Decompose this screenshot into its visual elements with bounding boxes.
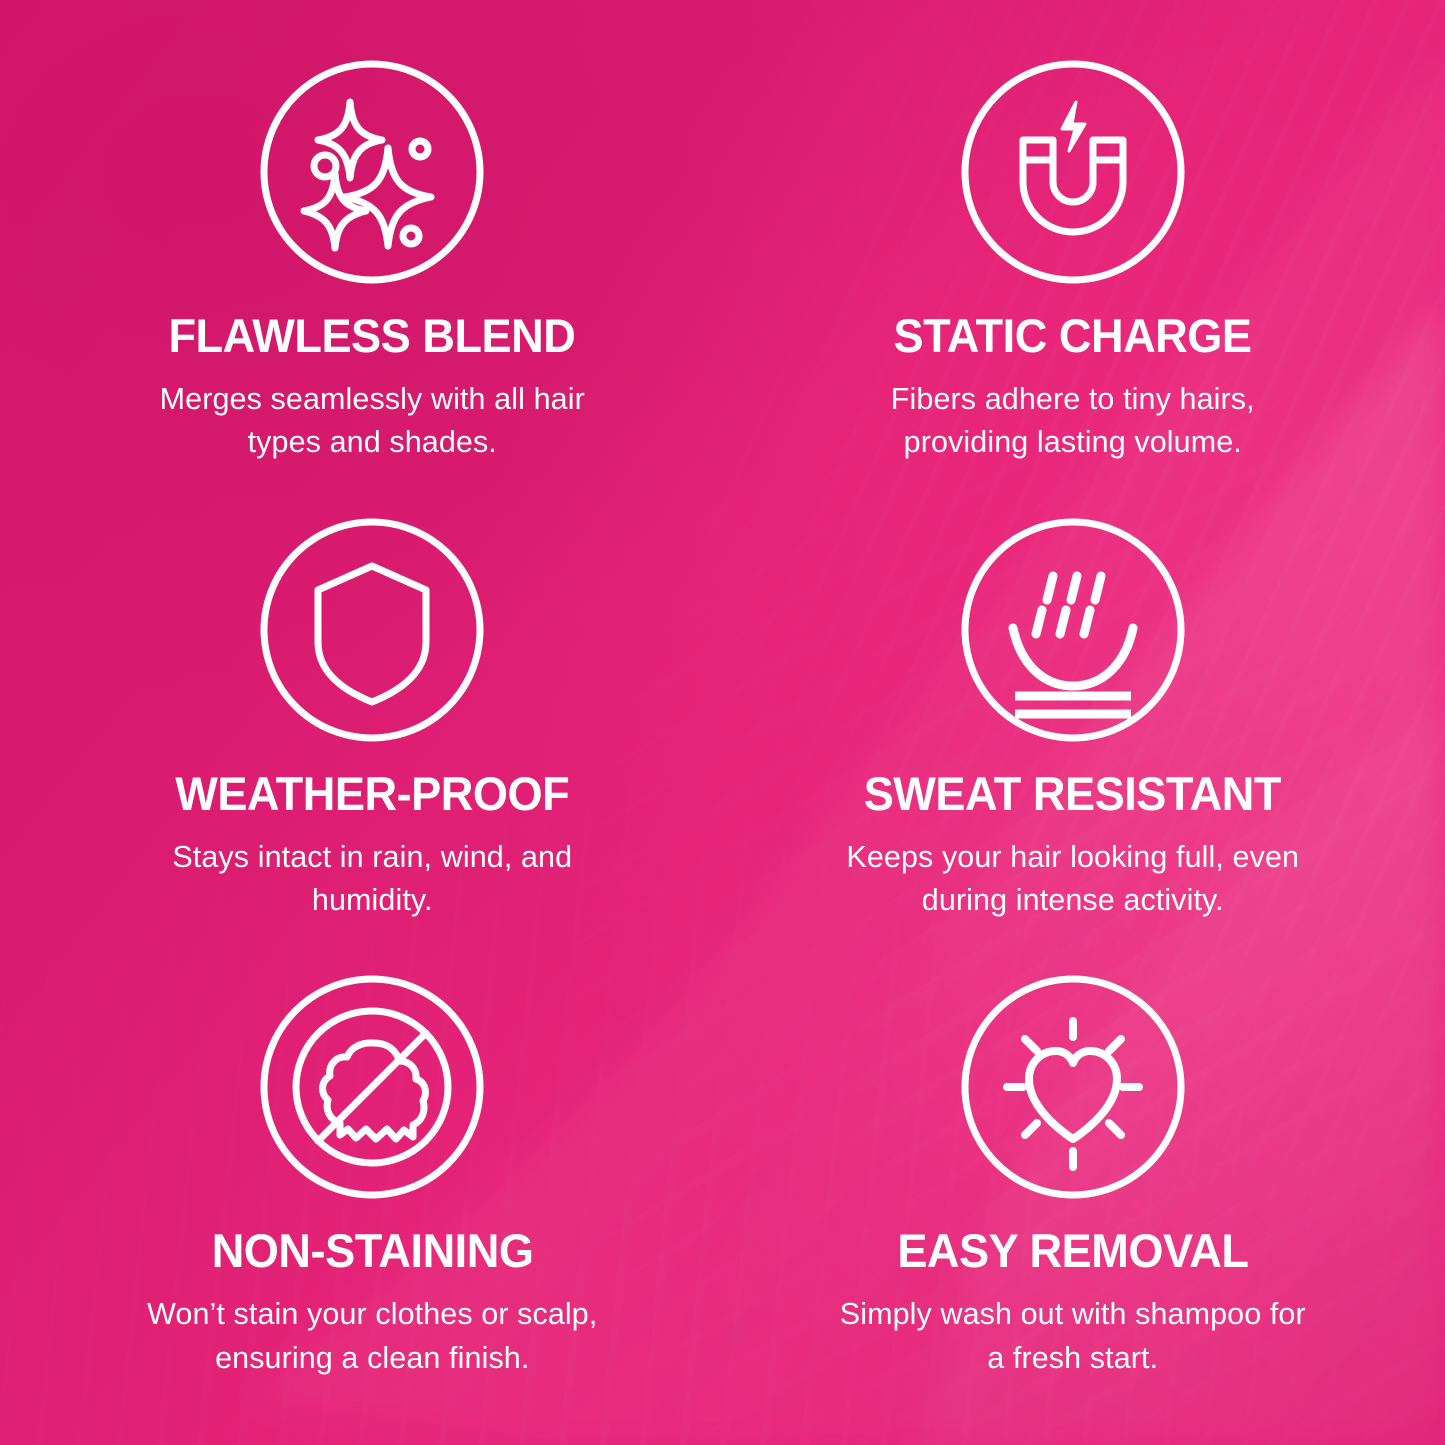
feature-title: NON-STAINING xyxy=(211,1227,533,1274)
feature-description: Merges seamlessly with all hair types an… xyxy=(137,378,607,465)
shield-icon xyxy=(256,514,488,746)
feature-description: Won’t stain your clothes or scalp, ensur… xyxy=(137,1293,607,1380)
feature-title: FLAWLESS BLEND xyxy=(169,312,576,359)
feature-infographic: FLAWLESS BLEND Merges seamlessly with al… xyxy=(0,0,1445,1445)
sparkle-icon xyxy=(256,56,488,288)
feature-description: Simply wash out with shampoo for a fresh… xyxy=(838,1293,1308,1380)
feature-title: WEATHER-PROOF xyxy=(175,770,569,817)
feature-grid: FLAWLESS BLEND Merges seamlessly with al… xyxy=(0,0,1445,1445)
feature-card-flawless-blend: FLAWLESS BLEND Merges seamlessly with al… xyxy=(22,42,723,500)
feature-card-easy-removal: EASY REMOVAL Simply wash out with shampo… xyxy=(723,957,1424,1415)
feature-card-non-staining: NON-STAINING Won’t stain your clothes or… xyxy=(22,957,723,1415)
feature-description: Fibers adhere to tiny hairs, providing l… xyxy=(838,378,1308,465)
magnet-icon xyxy=(957,56,1189,288)
feature-description: Keeps your hair looking full, even durin… xyxy=(838,836,1308,923)
feature-title: SWEAT RESISTANT xyxy=(864,770,1281,817)
feature-card-static-charge: STATIC CHARGE Fibers adhere to tiny hair… xyxy=(723,42,1424,500)
feature-card-sweat-resistant: SWEAT RESISTANT Keeps your hair looking … xyxy=(723,500,1424,958)
feature-title: STATIC CHARGE xyxy=(894,312,1252,359)
feature-title: EASY REMOVAL xyxy=(897,1227,1248,1274)
feature-description: Stays intact in rain, wind, and humidity… xyxy=(137,836,607,923)
no-stain-icon xyxy=(256,971,488,1203)
shining-heart-icon xyxy=(957,971,1189,1203)
sweat-droplets-icon xyxy=(957,514,1189,746)
feature-card-weather-proof: WEATHER-PROOF Stays intact in rain, wind… xyxy=(22,500,723,958)
